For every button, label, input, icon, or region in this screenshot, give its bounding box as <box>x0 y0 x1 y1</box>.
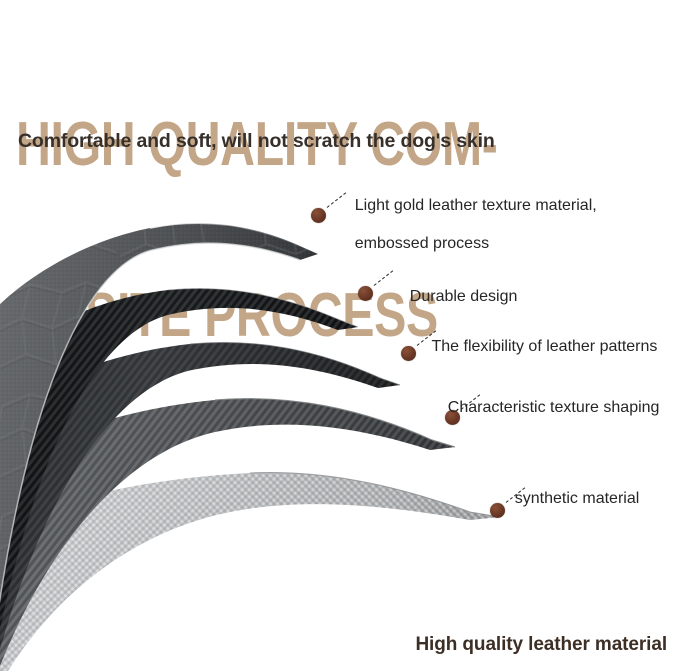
callout-text-line-1: Characteristic texture shaping <box>448 399 660 416</box>
callout-label-leather-flexibility: The flexibility of leather patterns <box>414 318 657 375</box>
callout-label-durable-design: Durable design <box>392 268 517 325</box>
callout-text-line-1: The flexibility of leather patterns <box>432 338 658 355</box>
callout-dot-durable-design <box>358 286 373 301</box>
callout-label-light-gold-leather: Light gold leather texture material, emb… <box>337 177 597 272</box>
callout-text-line-1: synthetic material <box>515 490 640 507</box>
callout-dot-light-gold-leather <box>311 208 326 223</box>
callout-text-line-1: Durable design <box>410 288 518 305</box>
callout-text-line-2: embossed process <box>355 235 489 252</box>
callout-text-line-1: Light gold leather texture material, <box>355 197 597 214</box>
callout-label-synthetic-material: synthetic material <box>497 470 639 527</box>
callout-label-texture-shaping: Characteristic texture shaping <box>430 379 659 436</box>
page-subtitle: Comfortable and soft, will not scratch t… <box>18 130 495 153</box>
product-infographic: HIGH QUALITY COM- POSITE PROCESS Comfort… <box>0 0 679 671</box>
footer-note: High quality leather material <box>415 634 667 656</box>
